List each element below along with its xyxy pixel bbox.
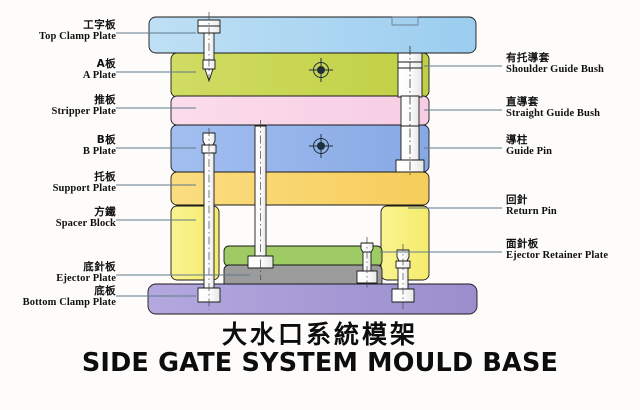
label-a-plate: A板 A Plate (6, 58, 116, 82)
label-stripper-plate: 推板 Stripper Plate (6, 94, 116, 118)
label-shoulder-guide-bush-en: Shoulder Guide Bush (506, 64, 604, 76)
label-shoulder-guide-bush: 有托導套 Shoulder Guide Bush (506, 52, 604, 76)
label-spacer-block: 方鐵 Spacer Block (6, 206, 116, 230)
label-straight-guide-bush: 直導套 Straight Guide Bush (506, 96, 600, 120)
label-bottom-clamp-plate-en: Bottom Clamp Plate (2, 297, 116, 309)
label-b-plate-en: B Plate (6, 146, 116, 158)
label-guide-pin-cn: 導柱 (506, 134, 552, 146)
label-straight-guide-bush-cn: 直導套 (506, 96, 600, 108)
label-stripper-plate-cn: 推板 (6, 94, 116, 106)
plate-stripper (171, 96, 429, 125)
label-ejector-retainer-plate-cn: 面針板 (506, 238, 608, 250)
label-shoulder-guide-bush-cn: 有托導套 (506, 52, 604, 64)
label-return-pin: 回針 Return Pin (506, 194, 557, 218)
label-bottom-clamp-plate-cn: 底板 (2, 285, 116, 297)
label-ejector-plate-cn: 底針板 (6, 261, 116, 273)
label-support-plate-cn: 托板 (6, 171, 116, 183)
title-chinese: 大水口系統模架 (0, 315, 640, 351)
label-top-clamp-plate-en: Top Clamp Plate (6, 31, 116, 43)
label-top-clamp-plate-cn: 工字板 (6, 19, 116, 31)
label-b-plate-cn: B板 (6, 134, 116, 146)
label-ejector-retainer-plate-en: Ejector Retainer Plate (506, 250, 608, 262)
label-support-plate-en: Support Plate (6, 183, 116, 195)
mould-base-diagram: 工字板 Top Clamp Plate A板 A Plate 推板 Stripp… (0, 0, 640, 410)
label-ejector-plate: 底針板 Ejector Plate (6, 261, 116, 285)
label-ejector-retainer-plate: 面針板 Ejector Retainer Plate (506, 238, 608, 262)
label-guide-pin: 導柱 Guide Pin (506, 134, 552, 158)
label-straight-guide-bush-en: Straight Guide Bush (506, 108, 600, 120)
label-b-plate: B板 B Plate (6, 134, 116, 158)
title-english: SIDE GATE SYSTEM MOULD BASE (0, 348, 640, 378)
label-guide-pin-en: Guide Pin (506, 146, 552, 158)
label-return-pin-cn: 回針 (506, 194, 557, 206)
label-top-clamp-plate: 工字板 Top Clamp Plate (6, 19, 116, 43)
label-a-plate-en: A Plate (6, 70, 116, 82)
label-return-pin-en: Return Pin (506, 206, 557, 218)
label-stripper-plate-en: Stripper Plate (6, 106, 116, 118)
label-bottom-clamp-plate: 底板 Bottom Clamp Plate (2, 285, 116, 309)
label-spacer-block-cn: 方鐵 (6, 206, 116, 218)
label-spacer-block-en: Spacer Block (6, 218, 116, 230)
plate-bottom-clamp (148, 284, 477, 314)
label-ejector-plate-en: Ejector Plate (6, 273, 116, 285)
label-a-plate-cn: A板 (6, 58, 116, 70)
label-support-plate: 托板 Support Plate (6, 171, 116, 195)
